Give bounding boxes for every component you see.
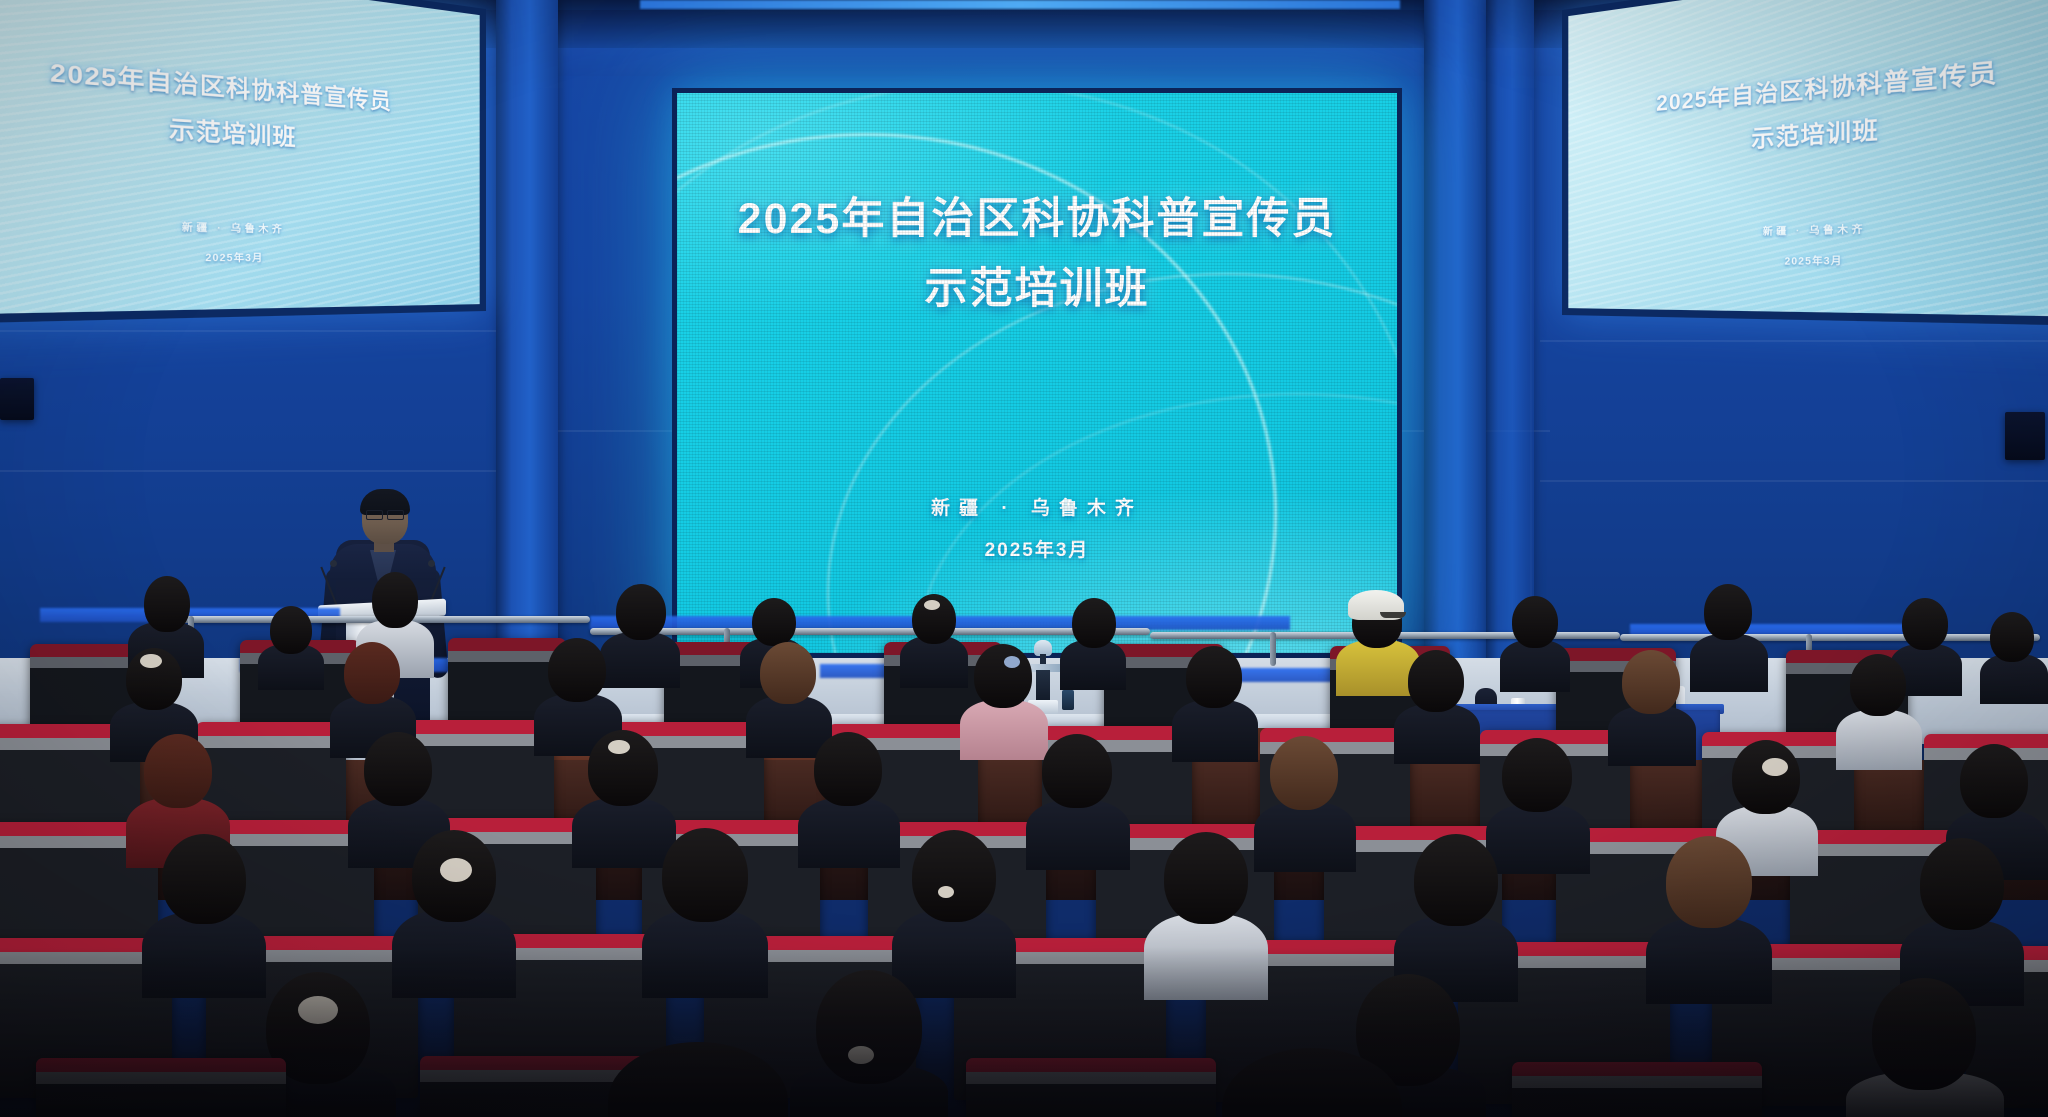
audience-member — [1646, 836, 1772, 1000]
wall-seam — [0, 470, 520, 472]
seat — [966, 1058, 1216, 1117]
conference-hall-scene: 2025年自治区科协科普宣传员 示范培训班 新疆 · 乌鲁木齐 2025年3月 … — [0, 0, 2048, 1117]
side-screen-left: 2025年自治区科协科普宣传员 示范培训班 新疆 · 乌鲁木齐 2025年3月 — [0, 0, 486, 325]
wall-seam — [0, 330, 520, 332]
audience-area — [0, 572, 2048, 1117]
audience-member — [1836, 654, 1922, 766]
hair-accessory — [1762, 758, 1788, 776]
cap-brim — [1380, 612, 1406, 618]
audience-member — [900, 594, 968, 686]
hair-accessory — [298, 996, 338, 1024]
side-screen-right-date: 2025年3月 — [1568, 249, 2048, 269]
microphone-head-right — [428, 560, 435, 567]
side-screen-right-surface: 2025年自治区科协科普宣传员 示范培训班 新疆 · 乌鲁木齐 2025年3月 — [1568, 0, 2048, 318]
side-screen-right-location: 新疆 · 乌鲁木齐 — [1568, 215, 2048, 243]
audience-member — [1846, 978, 2004, 1117]
audience-member — [790, 970, 948, 1117]
audience-member — [642, 828, 768, 994]
hair-accessory — [440, 858, 472, 882]
main-screen-title-block: 2025年自治区科协科普宣传员 示范培训班 — [677, 185, 1397, 324]
audience-member — [1980, 612, 2048, 702]
audience-member — [608, 1042, 788, 1117]
audience-member — [1144, 832, 1268, 996]
side-screen-left-surface: 2025年自治区科协科普宣传员 示范培训班 新疆 · 乌鲁木齐 2025年3月 — [0, 0, 480, 315]
audience-member — [258, 606, 324, 688]
railing-post — [1270, 632, 1276, 666]
side-screen-left-date: 2025年3月 — [0, 247, 480, 265]
seat — [36, 1058, 286, 1117]
main-screen-location: 新疆 · 乌鲁木齐 — [677, 493, 1397, 520]
safety-railing — [1620, 634, 2040, 641]
microphone-head-left — [330, 560, 337, 567]
ceiling-light-strip — [640, 0, 1400, 9]
audience-member — [1026, 734, 1130, 866]
main-screen-title-line1: 2025年自治区科协科普宣传员 — [677, 185, 1397, 255]
audience-member — [1608, 650, 1696, 762]
audience-member — [1060, 598, 1126, 688]
wall-seam — [1540, 480, 2048, 482]
audience-member — [1222, 1048, 1402, 1117]
audience-member — [1394, 650, 1480, 760]
audience-member — [1254, 736, 1356, 868]
seat — [1512, 1062, 1762, 1117]
audience-member — [392, 830, 516, 994]
wall-speaker-right — [2005, 412, 2045, 460]
audience-member — [1690, 584, 1768, 688]
side-screen-left-location: 新疆 · 乌鲁木齐 — [0, 213, 480, 239]
main-screen-date: 2025年3月 — [677, 535, 1397, 562]
main-screen-title-line2: 示范培训班 — [677, 255, 1397, 325]
audience-member — [1500, 596, 1570, 690]
wall-speaker-left — [0, 378, 34, 420]
audience-member — [142, 834, 266, 994]
hair-accessory — [140, 654, 162, 668]
audience-member — [798, 732, 900, 864]
side-screen-right: 2025年自治区科协科普宣传员 示范培训班 新疆 · 乌鲁木齐 2025年3月 — [1562, 0, 2048, 327]
audience-member — [1172, 646, 1258, 758]
wall-seam — [1540, 340, 2048, 342]
glasses-icon — [366, 510, 404, 518]
